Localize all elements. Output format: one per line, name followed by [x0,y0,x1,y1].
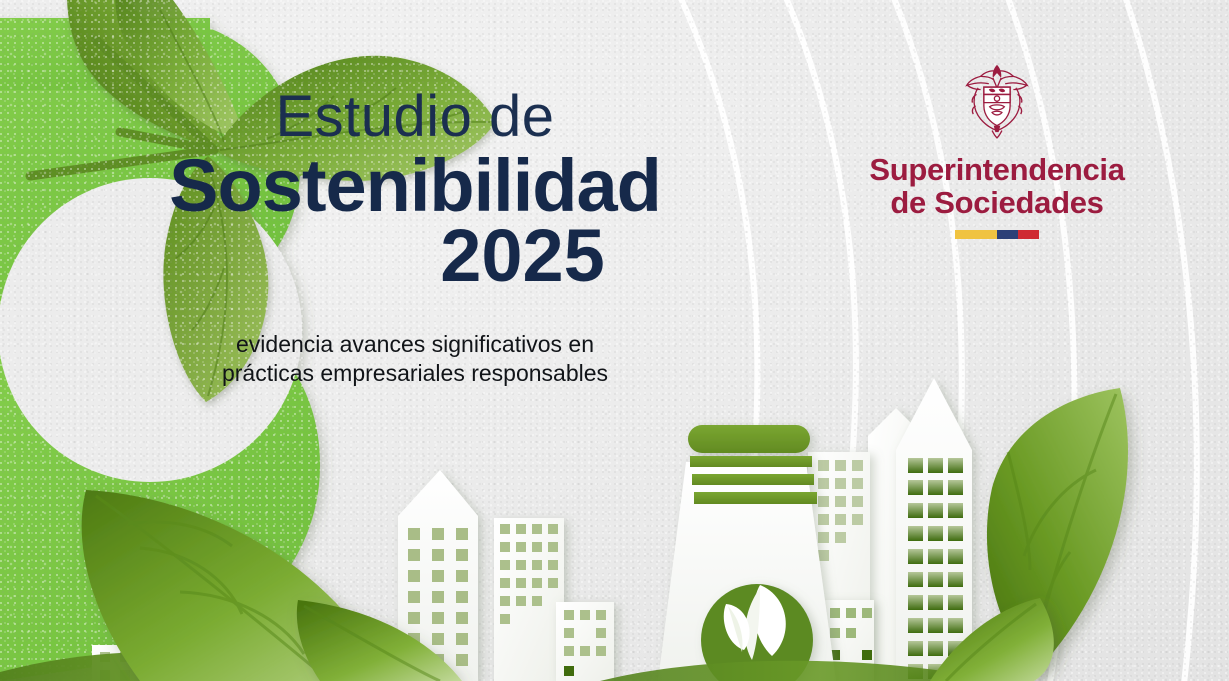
colombia-coat-of-arms-icon [956,60,1038,142]
headline-line-2: Sostenibilidad [0,148,830,223]
flag-yellow-stripe [955,230,997,239]
colombia-flag-bar [955,230,1039,239]
headline-year: 2025 [0,219,830,293]
headline-line-1: Estudio de [0,88,830,146]
sustainability-banner: Estudio de Sostenibilidad 2025 evidencia… [0,0,1229,681]
logo-title-line-1: Superintendencia [852,153,1142,186]
subtitle-line-1: evidencia avances significativos en [0,330,830,359]
leaf-bottom-right-2 [930,598,1054,681]
leaf-bottom-left-2 [297,600,462,681]
flag-red-stripe [1018,230,1039,239]
headline-block: Estudio de Sostenibilidad 2025 [0,88,830,293]
logo-title-line-2: de Sociedades [852,186,1142,219]
subtitle-line-2: prácticas empresariales responsables [0,359,830,388]
superintendencia-logo: Superintendencia de Sociedades [852,60,1142,239]
flag-blue-stripe [997,230,1018,239]
subtitle-block: evidencia avances significativos en prác… [0,330,830,389]
